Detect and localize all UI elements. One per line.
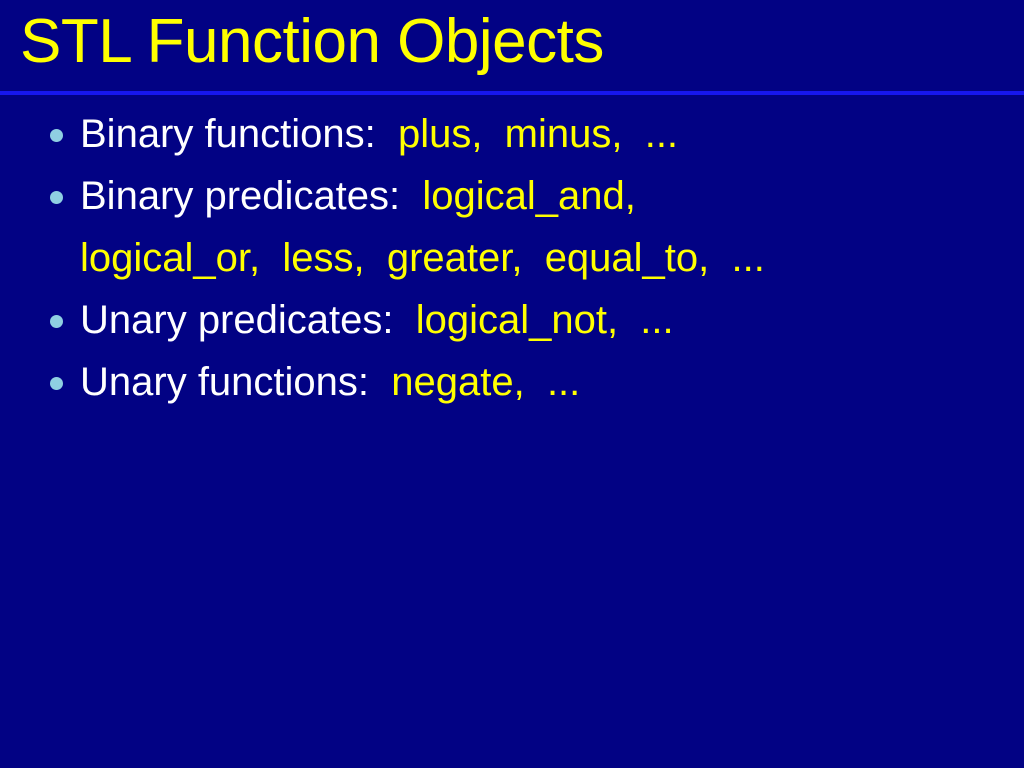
bullet-list: Binary functions: plus, minus, ... Binar… (0, 103, 1024, 413)
list-item: Unary predicates: logical_not, ... (0, 289, 1024, 351)
list-item: Binary predicates: logical_and, logical_… (0, 165, 1024, 289)
disc-bullet-icon (50, 315, 63, 328)
slide-canvas: STL Function Objects Binary functions: p… (0, 0, 1024, 768)
list-item-label: Unary predicates: (80, 298, 405, 342)
list-item: Unary functions: negate, ... (0, 351, 1024, 413)
disc-bullet-icon (50, 377, 63, 390)
page-title: STL Function Objects (20, 6, 604, 78)
slide-header: STL Function Objects (0, 0, 1024, 92)
list-item-code: logical_not, ... (405, 298, 674, 342)
list-item-code-continued: logical_or, less, greater, equal_to, ... (80, 227, 1024, 289)
list-item-label: Binary predicates: (80, 174, 411, 218)
list-item-code: plus, minus, ... (387, 112, 678, 156)
list-item-label: Unary functions: (80, 360, 380, 404)
disc-bullet-icon (50, 129, 63, 142)
list-item-code: negate, ... (380, 360, 580, 404)
title-divider (0, 91, 1024, 95)
disc-bullet-icon (50, 191, 63, 204)
list-item: Binary functions: plus, minus, ... (0, 103, 1024, 165)
list-item-code: logical_and, (411, 174, 636, 218)
list-item-label: Binary functions: (80, 112, 387, 156)
